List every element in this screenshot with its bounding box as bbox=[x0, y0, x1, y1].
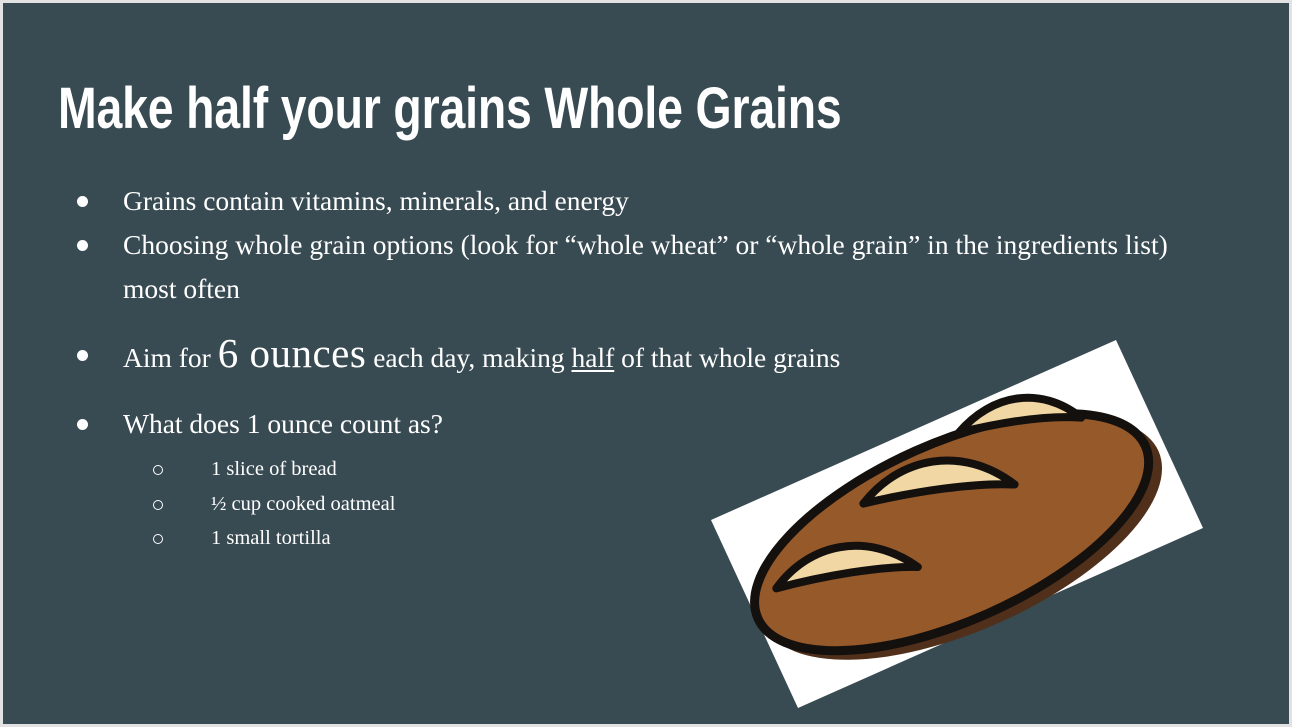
bullet-item-grains-nutrients: Grains contain vitamins, minerals, and e… bbox=[65, 179, 1195, 223]
sub-bullet-text: ½ cup cooked oatmeal bbox=[211, 493, 395, 515]
sub-bullet-text: 1 small tortilla bbox=[211, 527, 331, 549]
hollow-bullet-icon bbox=[153, 534, 163, 544]
bullet-text: Grains contain vitamins, minerals, and e… bbox=[123, 179, 1195, 223]
bullet-dot-icon bbox=[77, 196, 88, 207]
slide-canvas: Make half your grains Whole Grains Grain… bbox=[0, 0, 1292, 727]
bullet-dot-icon bbox=[77, 419, 88, 430]
bread-loaf-icon bbox=[697, 332, 1217, 727]
bullet-item-whole-grain-options: Choosing whole grain options (look for “… bbox=[65, 223, 1195, 311]
sub-bullet-text: 1 slice of bread bbox=[211, 458, 337, 480]
hollow-bullet-icon bbox=[153, 465, 163, 475]
bullet-text: Choosing whole grain options (look for “… bbox=[123, 223, 1195, 311]
bullet-text-prefix: Aim for bbox=[123, 342, 218, 373]
bullet-text-suffix: each day, making bbox=[366, 342, 571, 373]
bullet-dot-icon bbox=[77, 240, 88, 251]
bullet-dot-icon bbox=[77, 350, 88, 361]
daily-amount-emphasis: 6 ounces bbox=[218, 330, 367, 376]
hollow-bullet-icon bbox=[153, 500, 163, 510]
page-title: Make half your grains Whole Grains bbox=[58, 77, 938, 141]
half-underlined-text: half bbox=[571, 342, 614, 373]
bread-loaf-image bbox=[697, 332, 1217, 727]
